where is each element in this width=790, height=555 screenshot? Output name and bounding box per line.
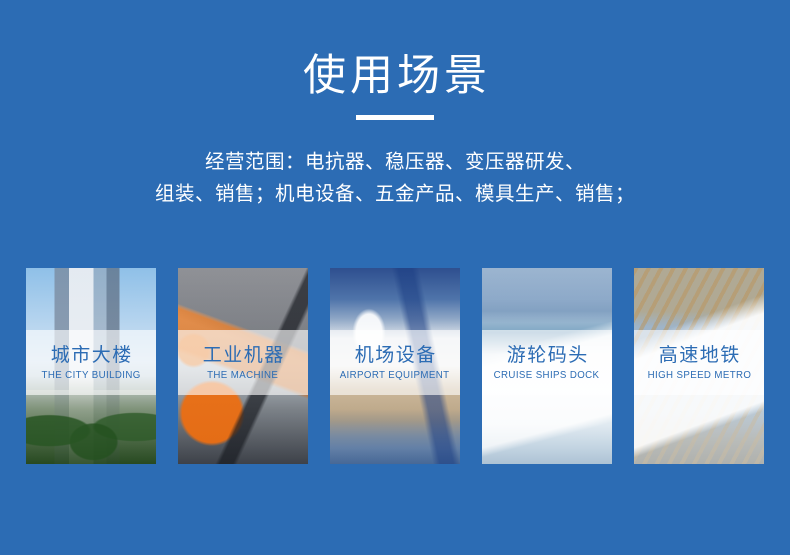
card-title-en: AIRPORT EQUIPMENT bbox=[340, 368, 450, 383]
business-scope-line-2: 组装、销售；机电设备、五金产品、模具生产、销售； bbox=[0, 178, 790, 210]
business-scope-line-1: 经营范围：电抗器、稳压器、变压器研发、 bbox=[0, 146, 790, 178]
section-header: 使用场景 经营范围：电抗器、稳压器、变压器研发、 组装、销售；机电设备、五金产品… bbox=[0, 0, 790, 210]
use-case-card-airport-equipment[interactable]: 机场设备 AIRPORT EQUIPMENT bbox=[330, 268, 460, 464]
card-title-cn: 城市大楼 bbox=[49, 344, 133, 368]
card-title-cn: 机场设备 bbox=[353, 344, 437, 368]
card-caption: 游轮码头 CRUISE SHIPS DOCK bbox=[482, 330, 612, 395]
card-caption: 高速地铁 HIGH SPEED METRO bbox=[634, 330, 764, 395]
business-scope-description: 经营范围：电抗器、稳压器、变压器研发、 组装、销售；机电设备、五金产品、模具生产… bbox=[0, 120, 790, 210]
card-title-cn: 游轮码头 bbox=[505, 344, 589, 368]
card-title-cn: 工业机器 bbox=[201, 344, 285, 368]
use-case-card-machine[interactable]: 工业机器 THE MACHINE bbox=[178, 268, 308, 464]
card-caption: 工业机器 THE MACHINE bbox=[178, 330, 308, 395]
card-title-en: HIGH SPEED METRO bbox=[647, 368, 751, 383]
card-caption: 机场设备 AIRPORT EQUIPMENT bbox=[330, 330, 460, 395]
card-title-en: THE CITY BUILDING bbox=[41, 368, 140, 383]
use-case-card-city-building[interactable]: 城市大楼 THE CITY BUILDING bbox=[26, 268, 156, 464]
page-title: 使用场景 bbox=[0, 0, 790, 101]
card-title-en: THE MACHINE bbox=[207, 368, 278, 383]
card-title-en: CRUISE SHIPS DOCK bbox=[494, 368, 600, 383]
use-case-card-cruise-ships-dock[interactable]: 游轮码头 CRUISE SHIPS DOCK bbox=[482, 268, 612, 464]
use-case-card-high-speed-metro[interactable]: 高速地铁 HIGH SPEED METRO bbox=[634, 268, 764, 464]
use-case-card-list: 城市大楼 THE CITY BUILDING 工业机器 THE MACHINE … bbox=[26, 268, 764, 464]
card-caption: 城市大楼 THE CITY BUILDING bbox=[26, 330, 156, 395]
card-title-cn: 高速地铁 bbox=[657, 344, 741, 368]
use-case-section: 使用场景 经营范围：电抗器、稳压器、变压器研发、 组装、销售；机电设备、五金产品… bbox=[0, 0, 790, 555]
